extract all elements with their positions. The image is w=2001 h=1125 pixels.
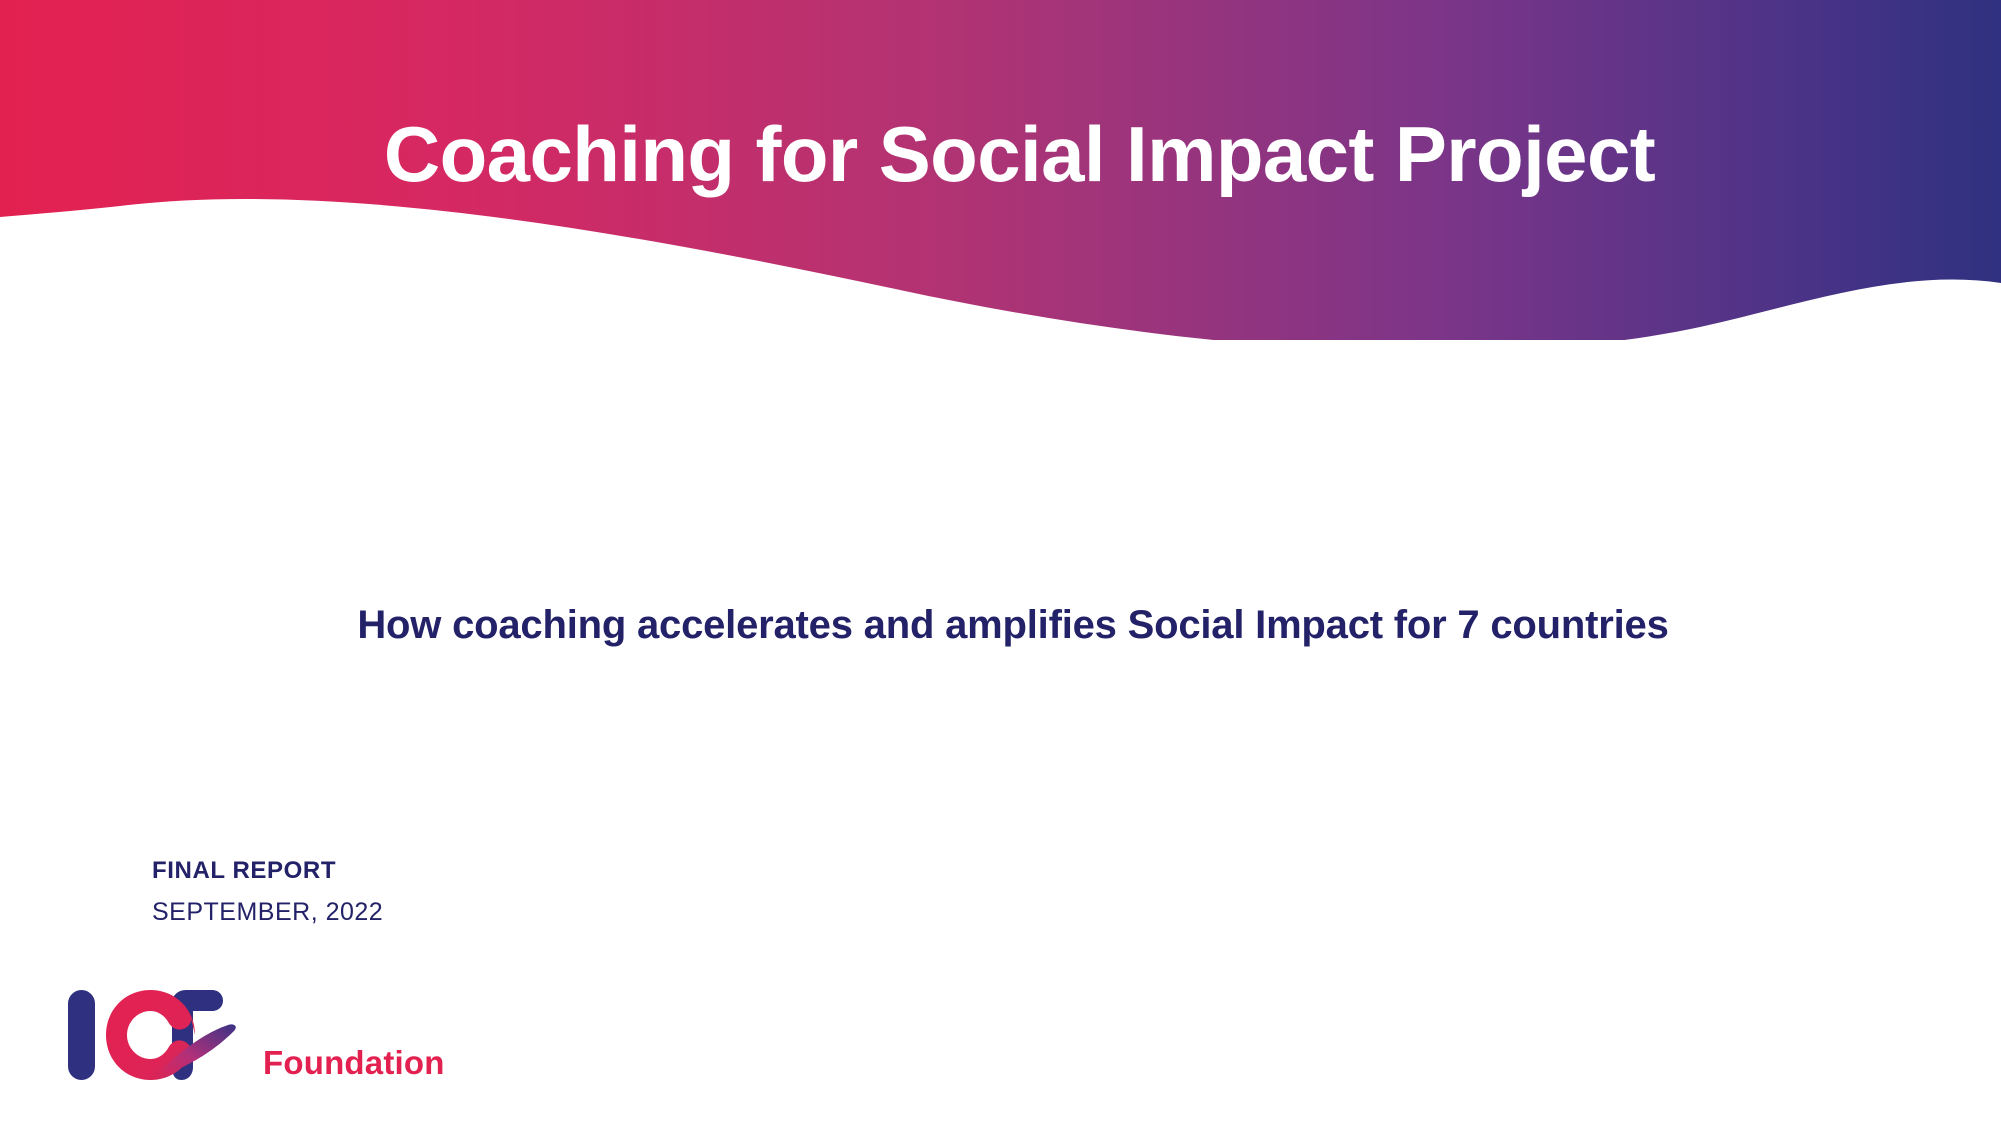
icf-logo-graphic: Foundation <box>60 975 460 1090</box>
subtitle: How coaching accelerates and amplifies S… <box>0 602 2001 648</box>
page-title: Coaching for Social Impact Project <box>0 115 2001 193</box>
report-meta: FINAL REPORT SEPTEMBER, 2022 <box>152 855 383 930</box>
icf-foundation-logo: Foundation <box>60 975 460 1090</box>
logo-letter-i <box>68 990 95 1080</box>
report-date: SEPTEMBER, 2022 <box>152 896 383 930</box>
logo-wordmark: Foundation <box>263 1044 445 1081</box>
report-type-label: FINAL REPORT <box>152 855 383 887</box>
report-cover-slide: Coaching for Social Impact Project How c… <box>0 0 2001 1125</box>
